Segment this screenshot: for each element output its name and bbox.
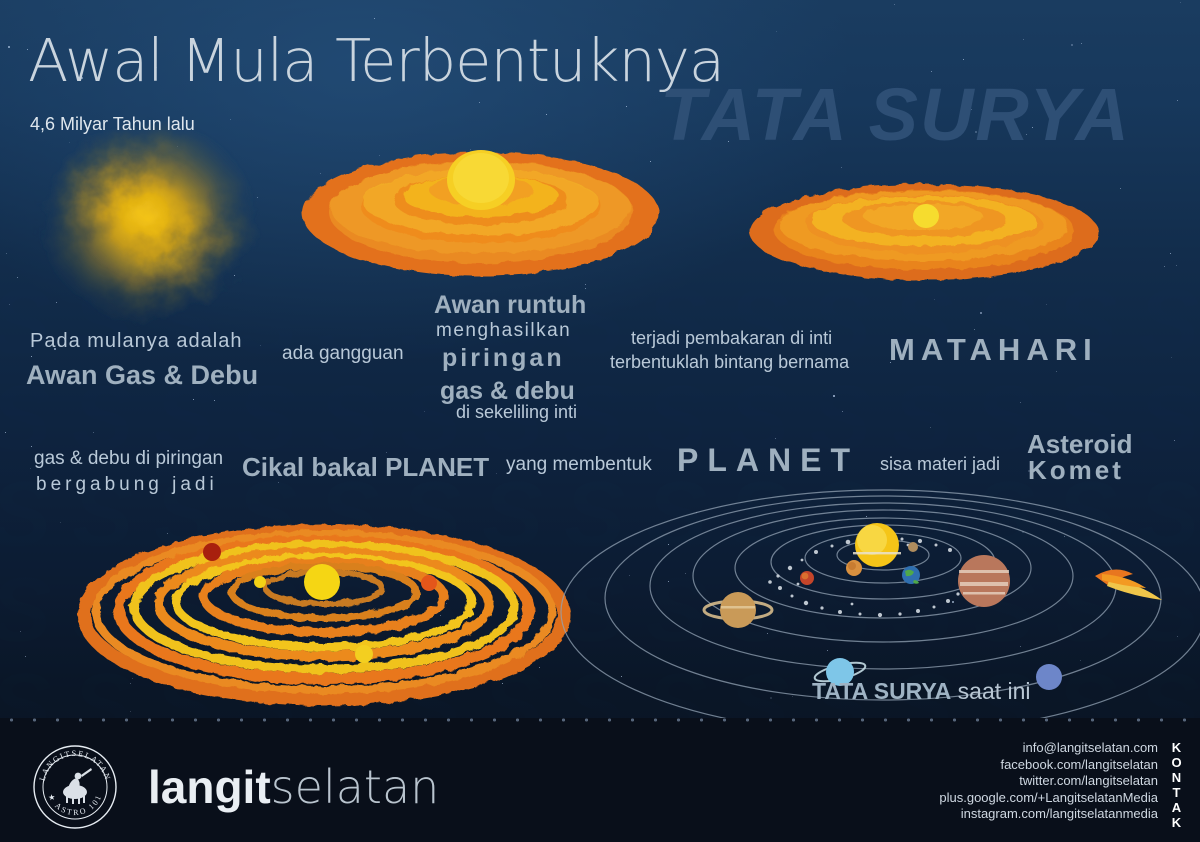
watermark-s-glyph: S xyxy=(728,0,789,80)
star xyxy=(894,4,895,5)
caption-collapse-bold-1: Awan runtuh xyxy=(434,291,586,320)
star xyxy=(1081,43,1082,44)
page-subtitle: 4,6 Milyar Tahun lalu xyxy=(30,114,195,135)
kontak-label: KONTAK xyxy=(1166,740,1188,830)
caption-collapse-bold-2: piringan xyxy=(442,344,565,373)
star xyxy=(934,299,935,300)
watermark-s-glyph: S xyxy=(0,564,51,656)
contact-facebook[interactable]: facebook.com/langitselatan xyxy=(939,757,1158,774)
star xyxy=(374,18,375,19)
kontak-letter: T xyxy=(1166,785,1188,800)
contact-list: info@langitselatan.com facebook.com/lang… xyxy=(939,740,1158,823)
star xyxy=(629,575,630,576)
caption-planetesimals-light-2: bergabung jadi xyxy=(36,474,218,496)
star xyxy=(20,631,21,632)
contact-googleplus[interactable]: plus.google.com/+LangitselatanMedia xyxy=(939,790,1158,807)
star xyxy=(980,312,982,314)
page-title-shadow: TATA SURYA xyxy=(660,72,1131,157)
star xyxy=(1177,100,1178,101)
brand-light: selatan xyxy=(271,760,440,814)
contact-instagram[interactable]: instagram.com/langitselatanmedia xyxy=(939,806,1158,823)
caption-planets-light: yang membentuk xyxy=(506,454,652,476)
caption-leftovers-light: sisa materi jadi xyxy=(880,454,1000,475)
watermark-s-glyph: S xyxy=(974,0,1035,80)
caption-komet: Komet xyxy=(1028,455,1124,486)
solar-system-label: TATA SURYA saat ini xyxy=(812,678,1031,705)
star xyxy=(496,473,497,474)
watermark-s-glyph: S xyxy=(1138,372,1199,464)
protoplanetary-disk-art xyxy=(296,142,666,282)
kontak-letter: A xyxy=(1166,800,1188,815)
star xyxy=(1020,402,1021,403)
watermark-s-glyph: S xyxy=(892,372,953,464)
star xyxy=(1170,253,1171,254)
caption-cloud-bold: Awan Gas & Debu xyxy=(26,360,258,391)
brand-wordmark: langitselatan xyxy=(148,760,439,814)
star xyxy=(6,253,7,254)
kontak-letter: K xyxy=(1166,740,1188,755)
star xyxy=(93,432,94,433)
gas-dust-cloud-art xyxy=(8,108,288,338)
star xyxy=(1164,266,1165,267)
watermark-s-glyph: S xyxy=(892,0,953,80)
contact-twitter[interactable]: twitter.com/langitselatan xyxy=(939,773,1158,790)
kontak-letter: N xyxy=(1166,770,1188,785)
caption-disturbance: ada gangguan xyxy=(282,343,404,365)
page-title: Awal Mula Terbentuknya xyxy=(28,26,724,95)
logo-seal: LANGITSELATAN ★ ASTRO 101 xyxy=(32,744,118,830)
star xyxy=(621,676,622,677)
star xyxy=(25,656,26,657)
kontak-letter: K xyxy=(1166,815,1188,830)
star xyxy=(1071,44,1073,46)
star xyxy=(193,399,194,400)
caption-star-light-1: terjadi pembakaran di inti xyxy=(631,328,832,349)
brand-bold: langit xyxy=(148,761,271,813)
caption-collapse-light-1: menghasilkan xyxy=(436,320,571,342)
watermark-s-glyph: S xyxy=(1056,0,1117,80)
caption-collapse-light-2: di sekeliling inti xyxy=(456,402,577,423)
watermark-s-glyph: S xyxy=(318,372,379,464)
footer-divider xyxy=(0,718,1200,722)
contact-email[interactable]: info@langitselatan.com xyxy=(939,740,1158,757)
star xyxy=(974,329,975,330)
proto-solar-system-art xyxy=(62,512,582,712)
star xyxy=(424,411,425,412)
caption-cloud-light: Pada mulanya adalah xyxy=(30,330,242,353)
forming-star-disk-art xyxy=(744,176,1104,288)
caption-star-light-2: terbentuklah bintang bernama xyxy=(610,352,849,373)
comet-icon xyxy=(1095,569,1162,600)
caption-planetesimals-light-1: gas & debu di piringan xyxy=(34,448,223,470)
caption-matahari: MATAHARI xyxy=(889,332,1098,368)
solar-system-label-light: saat ini xyxy=(958,678,1031,704)
star xyxy=(1120,188,1121,189)
kontak-letter: O xyxy=(1166,755,1188,770)
watermark-s-glyph: S xyxy=(1138,84,1199,176)
solar-system-label-bold: TATA SURYA xyxy=(812,678,951,704)
watermark-s-glyph: S xyxy=(1138,276,1199,368)
caption-cikal-bakal-planet: Cikal bakal PLANET xyxy=(242,452,489,483)
infographic-poster: SSSSSSSSSSSSSSSSSSSSSSSSSSSSSSSSSSSSSSSS… xyxy=(0,0,1200,842)
watermark-s-glyph: S xyxy=(1138,180,1199,272)
watermark-s-glyph: S xyxy=(810,0,871,80)
watermark-s-glyph: S xyxy=(1138,0,1199,80)
caption-planet: PLANET xyxy=(677,442,859,479)
